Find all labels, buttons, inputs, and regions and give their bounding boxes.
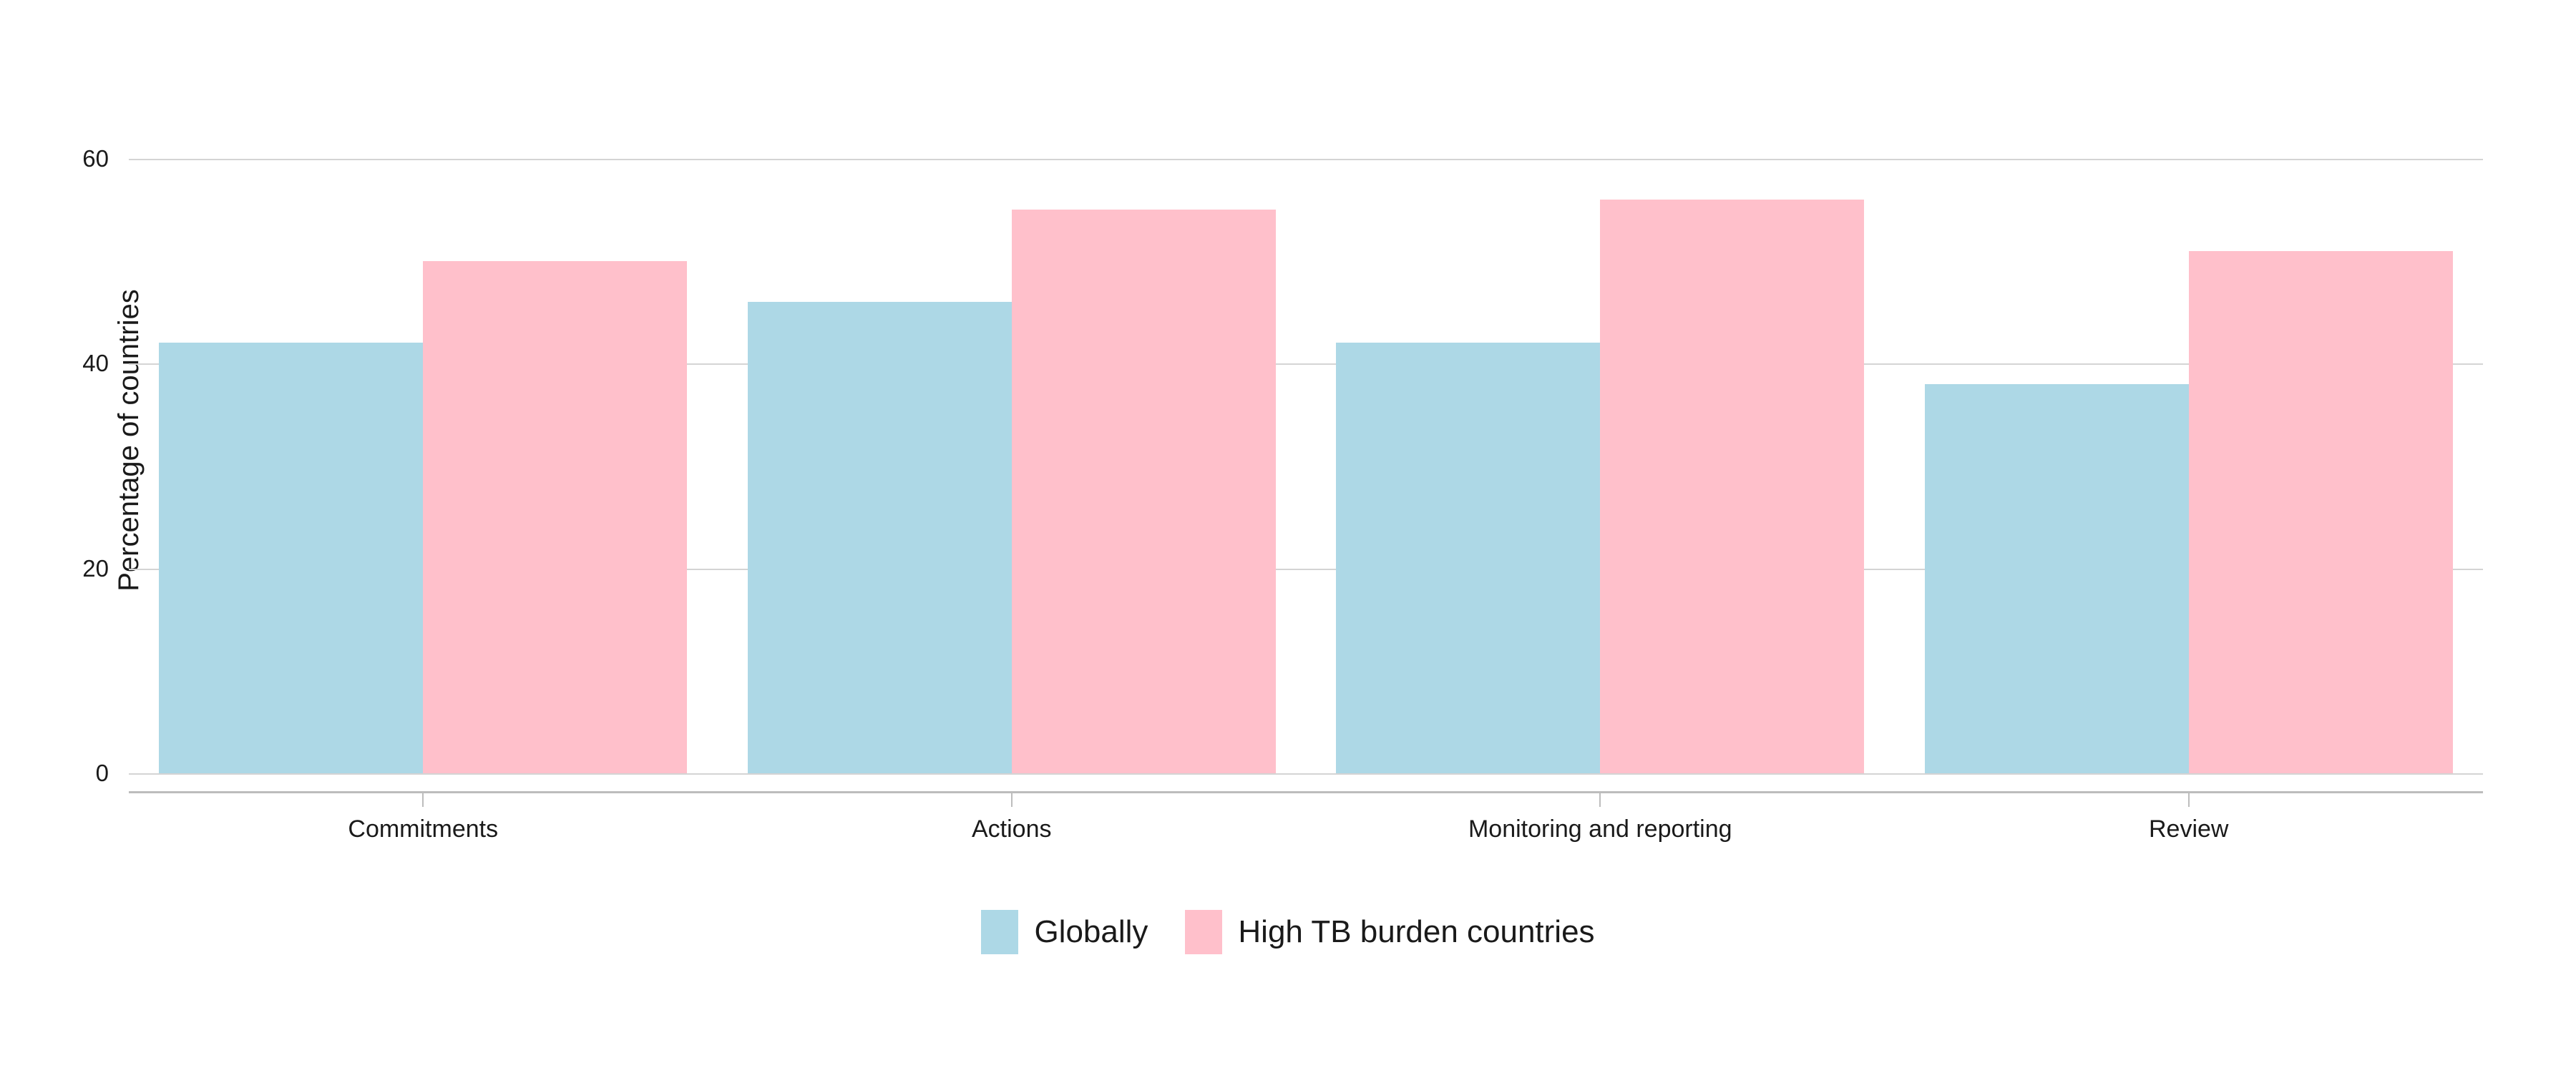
gridline <box>129 773 2483 775</box>
bar <box>748 302 1012 773</box>
bar <box>1925 384 2189 773</box>
gridline <box>129 159 2483 160</box>
bar <box>1600 200 1864 773</box>
bar-chart: Percentage of countries 0204060 Commitme… <box>0 0 2576 1073</box>
chart-legend: GloballyHigh TB burden countries <box>0 910 2576 954</box>
legend-item[interactable]: Globally <box>981 910 1148 954</box>
legend-label: High TB burden countries <box>1238 914 1594 950</box>
y-axis-tick-label: 40 <box>82 350 109 377</box>
x-axis-tick-label: Actions <box>972 815 1052 843</box>
bar <box>2189 251 2453 773</box>
x-axis-tick <box>422 791 424 807</box>
y-axis-title: Percentage of countries <box>107 107 150 773</box>
x-axis-tick-label: Monitoring and reporting <box>1468 815 1732 843</box>
y-axis-tick-label: 20 <box>82 555 109 582</box>
x-axis-tick <box>2188 791 2190 807</box>
x-axis-line <box>129 791 2483 793</box>
y-axis-tick-label: 0 <box>96 760 109 787</box>
plot-area: Percentage of countries <box>129 107 2483 773</box>
legend-swatch <box>981 910 1018 954</box>
legend-swatch <box>1185 910 1222 954</box>
x-axis-tick <box>1011 791 1013 807</box>
x-axis-tick <box>1599 791 1601 807</box>
bar <box>1336 343 1600 773</box>
y-axis-tick-label: 60 <box>82 145 109 172</box>
x-axis-tick-label: Commitments <box>348 815 498 843</box>
legend-label: Globally <box>1034 914 1148 950</box>
x-axis-tick-label: Review <box>2149 815 2228 843</box>
bar <box>159 343 423 773</box>
legend-item[interactable]: High TB burden countries <box>1185 910 1594 954</box>
bar <box>1012 210 1276 773</box>
bar <box>423 261 687 773</box>
